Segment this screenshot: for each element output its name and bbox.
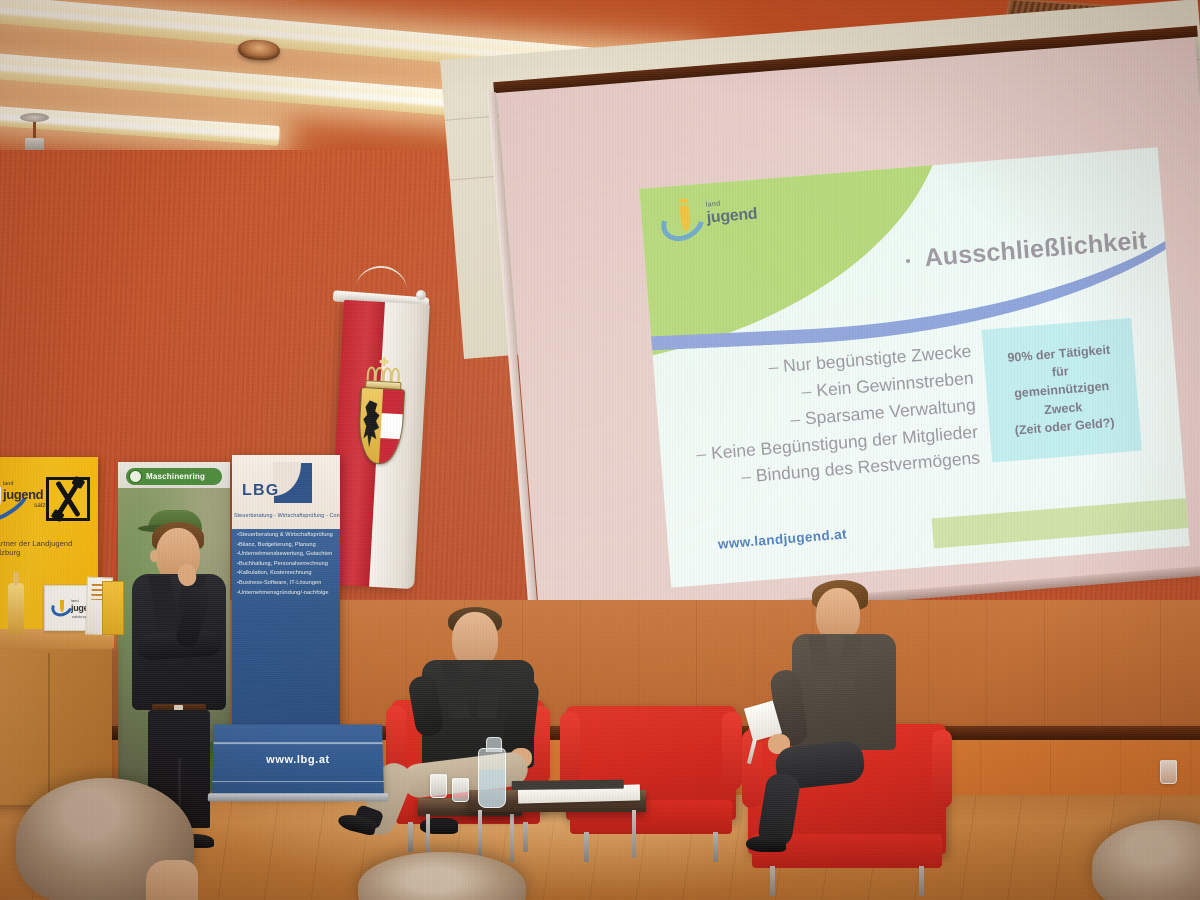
drinking-glass [1160,760,1177,784]
highlight-box-text: 90% der Tätigkeit für gemeinnützigen Zwe… [1007,341,1117,440]
flyer-stack [102,581,124,635]
shield-icon [357,387,405,465]
banner-tagline: ...artner der Landjugend Salzburg [0,539,98,557]
landjugend-logo: land jugend [658,194,773,245]
audience-head [16,778,194,900]
slide-bullet-list: –Nur begünstigte Zwecke –Kein Gewinnstre… [663,339,981,497]
highlight-line: gemeinnützigen [1014,379,1110,401]
lbg-header: LBG Steuerberatung - Wirtschaftsprüfung … [232,455,340,529]
drinking-glass [430,774,447,798]
hanging-spotlight-icon [33,118,36,140]
salzburg-flag [330,272,430,592]
shoe [746,836,786,852]
slide-url-text: www.landjugend.at [717,526,847,551]
raiffeisen-gable-cross-icon [46,477,90,521]
lbg-subtitle: Steuerberatung - Wirtschaftsprüfung - Co… [234,513,340,519]
banner-logo-jugend: jugend [3,487,43,502]
drinking-glass [452,778,469,802]
conference-photo-scene: land jugend •Ausschließlichkeit –Nur beg… [0,0,1200,900]
lbg-service-item: Bilanz, Budgetierung, Planung [237,541,339,551]
logo-jugend-text: jugend [706,206,758,228]
coat-of-arms [352,363,410,478]
lbg-mark-icon [274,463,312,503]
logo-j-icon [60,600,64,612]
maschinenring-label: Maschinenring [146,472,205,481]
ear [150,550,158,562]
water-carafe [478,748,506,808]
moderator [772,588,922,858]
bottle [8,583,24,635]
lectern-seam [48,653,50,803]
maschinenring-logo: Maschinenring [126,468,222,485]
slide-highlight-box: 90% der Tätigkeit für gemeinnützigen Zwe… [982,318,1142,463]
highlight-line: für [1051,364,1069,379]
lbg-service-item: Steuerberatung & Wirtschaftsprüfung [237,531,339,541]
slide-footer-accent [932,498,1189,548]
lbg-floor-banner-base: www.lbg.at [212,725,384,795]
lbg-service-item: Unternehmensgründung/-nachfolge [237,589,339,599]
highlight-line: (Zeit oder Geld?) [1014,415,1115,437]
bullet-dash: – [768,356,779,377]
flag-knob [416,290,426,300]
lbg-service-item: Kalkulation, Kostenrechnung [237,569,339,579]
bullet-dash: – [740,466,751,487]
slide-title-bullet-icon: • [905,253,911,269]
bullet-dash: – [789,408,800,429]
highlight-line: Zweck [1044,400,1083,417]
papers-on-table [518,784,640,803]
lbg-service-item: Unternehmensbewertung, Gutachten [237,550,339,560]
lbg-service-item: Business-Software, IT-Lösungen [237,579,339,589]
logo-land-text: land [705,200,720,208]
logo-circle-icon [129,470,142,483]
flag-cloth [328,300,430,589]
lbg-service-item: Buchhaltung, Personalverrechnung [237,560,339,570]
presentation-slide: land jugend •Ausschließlichkeit –Nur beg… [639,147,1189,587]
lbg-services-list: Steuerberatung & Wirtschaftsprüfung Bila… [237,531,339,598]
highlight-line: 90% der Tätigkeit [1007,343,1111,365]
bullet-dash: – [801,381,812,402]
projection-screen: land jugend •Ausschließlichkeit –Nur beg… [497,36,1200,620]
neck [146,860,198,900]
lbg-abbreviation: LBG [242,482,279,500]
lbg-base-url: www.lbg.at [213,754,383,766]
bullet-dash: – [696,443,707,464]
